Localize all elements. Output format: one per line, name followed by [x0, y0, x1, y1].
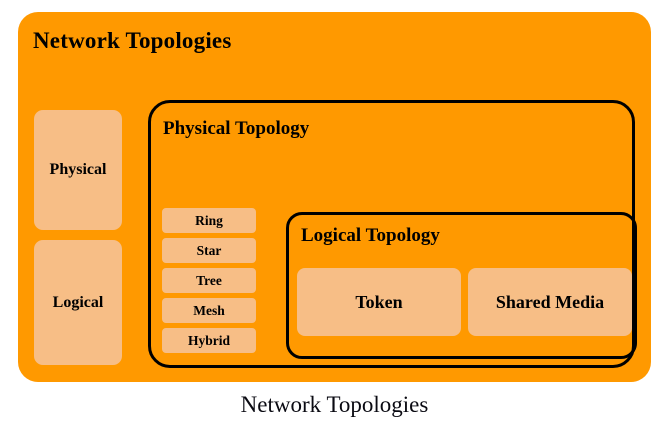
list-item: Ring [162, 208, 256, 233]
logical-topology-heading: Logical Topology [301, 225, 440, 247]
figure-caption: Network Topologies [0, 392, 669, 418]
physical-topology-heading: Physical Topology [163, 118, 309, 140]
page-title: Network Topologies [33, 28, 231, 54]
list-item: Mesh [162, 298, 256, 323]
list-item: Hybrid [162, 328, 256, 353]
logical-type-label-shared-media: Shared Media [496, 292, 604, 313]
type-label-hybrid: Hybrid [188, 333, 230, 349]
type-label-mesh: Mesh [193, 303, 225, 319]
type-label-ring: Ring [195, 213, 223, 229]
logical-type-box-token: Token [297, 268, 461, 336]
list-item: Tree [162, 268, 256, 293]
category-box-logical: Logical [34, 240, 122, 365]
type-label-tree: Tree [196, 273, 222, 289]
category-box-physical: Physical [34, 110, 122, 230]
list-item: Star [162, 238, 256, 263]
logical-topology-type-list: Token Shared Media [297, 268, 632, 336]
physical-topology-type-list: Ring Star Tree Mesh Hybrid [162, 208, 256, 353]
physical-topology-group: Physical Topology Ring Star Tree Mesh Hy… [148, 100, 635, 368]
logical-topology-group: Logical Topology Token Shared Media [286, 212, 637, 359]
type-label-star: Star [197, 243, 222, 259]
logical-type-box-shared-media: Shared Media [468, 268, 632, 336]
category-label-physical: Physical [50, 161, 107, 179]
logical-type-label-token: Token [355, 292, 402, 313]
network-topologies-panel: Network Topologies Physical Logical Phys… [18, 12, 651, 382]
category-label-logical: Logical [53, 294, 104, 312]
